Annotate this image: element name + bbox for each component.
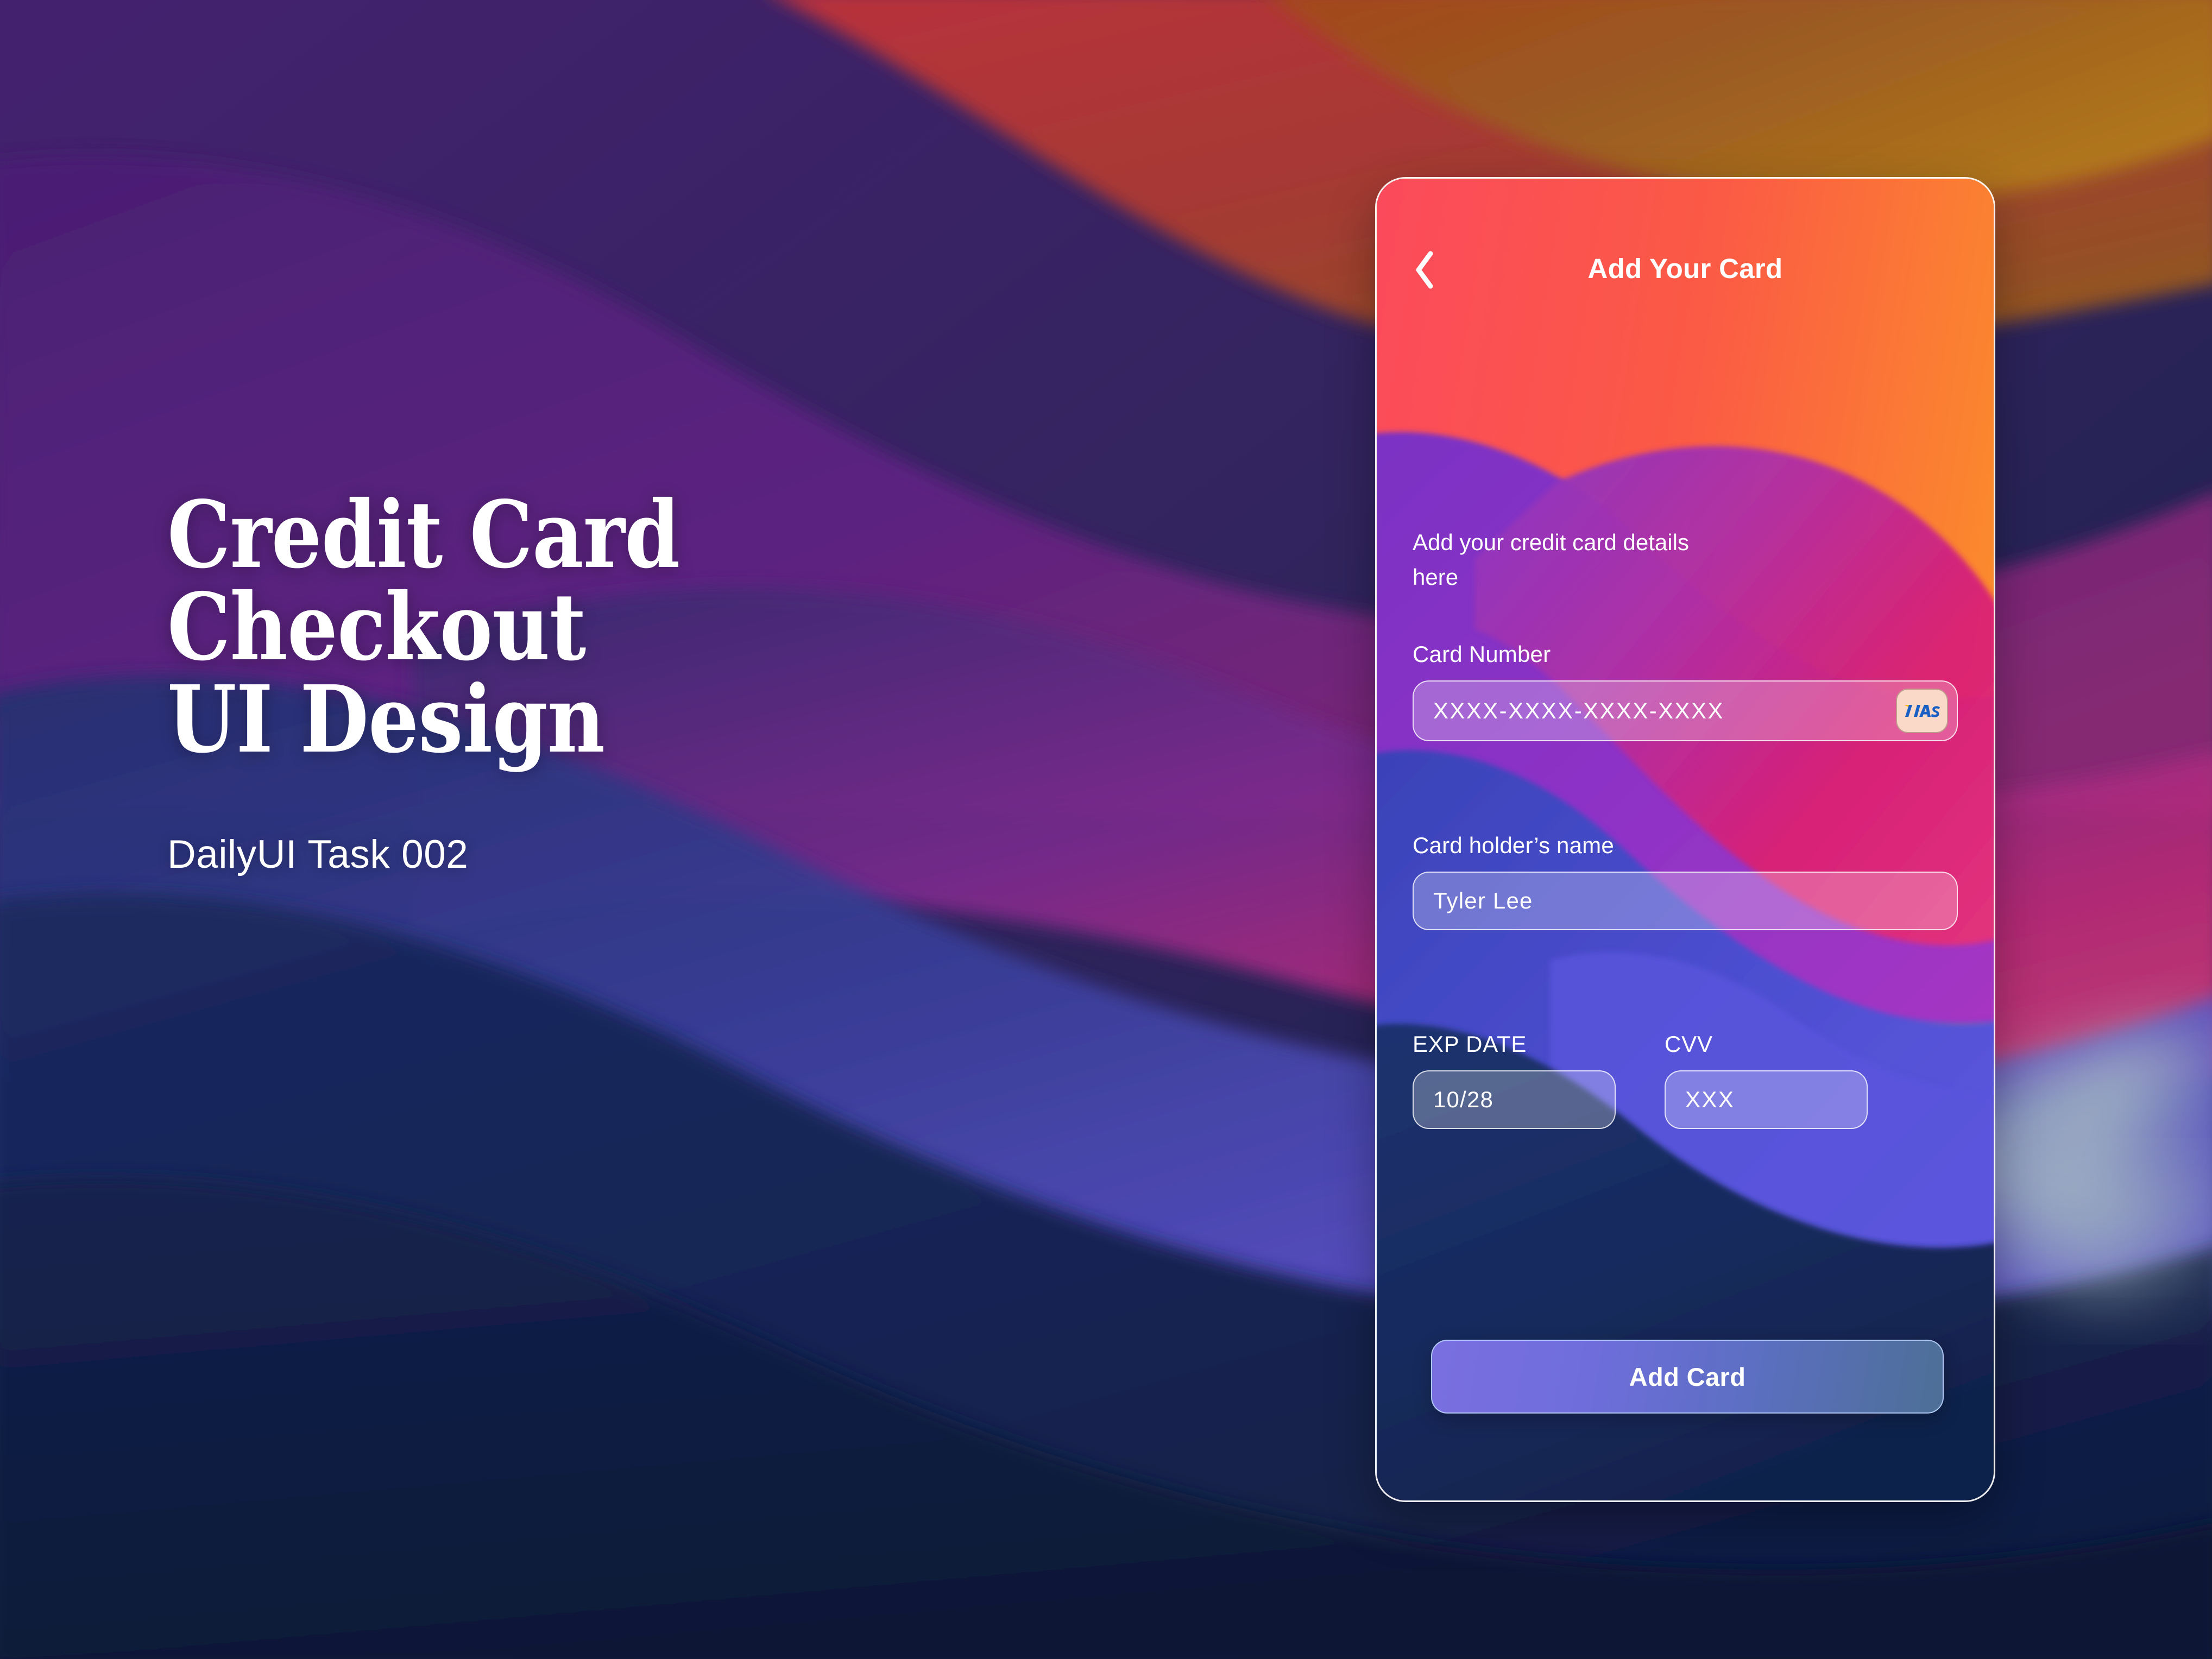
- cvv-field: CVV XXX: [1665, 1031, 1868, 1129]
- phone-mockup: Add Your Card Add your credit card detai…: [1375, 177, 1995, 1502]
- hero-copy: Credit Card Checkout UI Design DailyUI T…: [167, 489, 1199, 877]
- card-holder-value: Tyler Lee: [1433, 888, 1533, 914]
- add-card-button[interactable]: Add Card: [1431, 1340, 1944, 1414]
- phone-navbar: Add Your Card: [1377, 248, 1994, 292]
- phone-intro-text: Add your credit card details here: [1413, 525, 1749, 595]
- card-holder-field: Card holder’s name Tyler Lee: [1413, 832, 1958, 930]
- phone-title: Add Your Card: [1377, 253, 1994, 285]
- exp-date-value: 10/28: [1433, 1087, 1493, 1113]
- page-title: Credit Card Checkout UI Design: [167, 489, 1055, 766]
- card-holder-label: Card holder’s name: [1413, 832, 1958, 859]
- card-number-field: Card Number XXXX-XXXX-XXXX-XXXX: [1413, 641, 1958, 741]
- card-number-label: Card Number: [1413, 641, 1958, 667]
- exp-date-field: EXP DATE 10/28: [1413, 1031, 1616, 1129]
- exp-date-input[interactable]: 10/28: [1413, 1070, 1616, 1129]
- cvv-value: XXX: [1685, 1087, 1735, 1113]
- cvv-input[interactable]: XXX: [1665, 1070, 1868, 1129]
- card-holder-input[interactable]: Tyler Lee: [1413, 872, 1958, 930]
- visa-logo-icon: [1896, 689, 1948, 733]
- cvv-label: CVV: [1665, 1031, 1868, 1057]
- page-subtitle: DailyUI Task 002: [167, 766, 1199, 877]
- app-canvas: Credit Card Checkout UI Design DailyUI T…: [0, 0, 2212, 1659]
- card-number-value: XXXX-XXXX-XXXX-XXXX: [1433, 698, 1724, 724]
- card-number-input[interactable]: XXXX-XXXX-XXXX-XXXX: [1413, 680, 1958, 741]
- exp-date-label: EXP DATE: [1413, 1031, 1616, 1057]
